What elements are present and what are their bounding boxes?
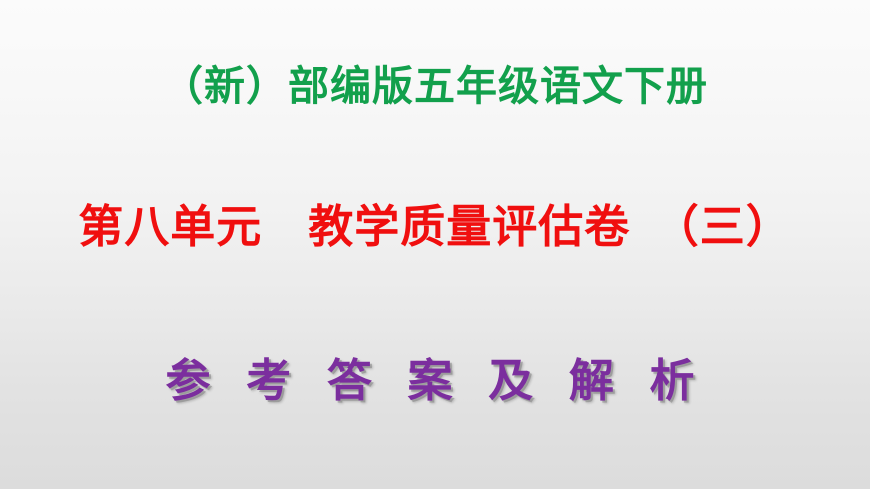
slide-answers-heading: 参 考 答 案 及 解 析 (0, 358, 870, 403)
slide-subject-line: （新）部编版五年级语文下册 (0, 66, 870, 107)
presentation-slide: （新）部编版五年级语文下册 第八单元 教学质量评估卷 （三） 参 考 答 案 及… (0, 0, 870, 489)
slide-exam-title: 第八单元 教学质量评估卷 （三） (0, 204, 870, 249)
